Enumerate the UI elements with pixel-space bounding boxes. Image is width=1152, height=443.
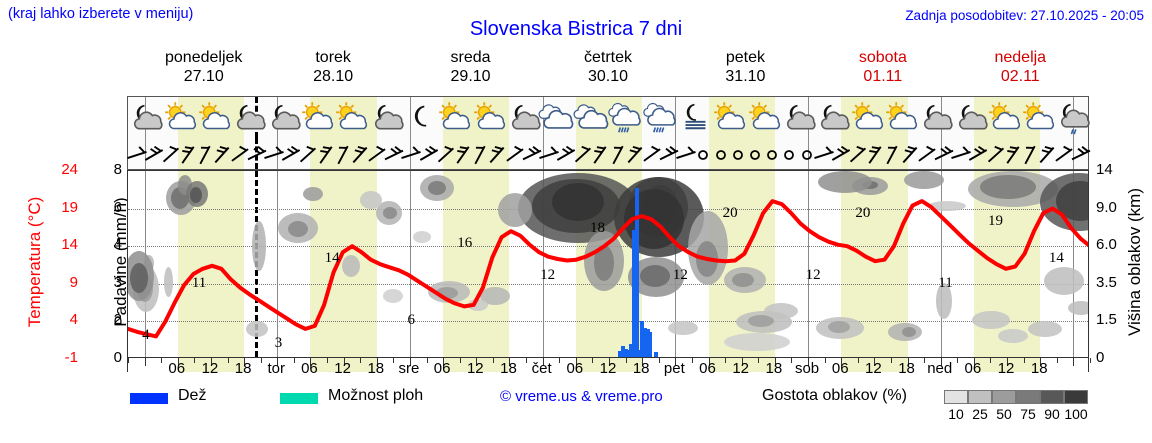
temperature-point-label: 12 (673, 267, 688, 284)
x-tick (1090, 358, 1091, 363)
temperature-point-label: 3 (275, 335, 283, 352)
wind-barb-band (127, 138, 1089, 170)
cloud-density-swatch (1016, 390, 1040, 404)
precipitation-tick: 6 (100, 199, 122, 216)
cloud-density-swatch (1040, 390, 1064, 404)
sun-cloud-icon (470, 99, 508, 137)
sun-cloud-icon (882, 99, 920, 137)
cloud-height-axis-title: Višina oblakov (km) (1125, 162, 1145, 362)
precipitation-tick: 4 (100, 236, 122, 253)
temperature-point-label: 14 (1049, 250, 1064, 267)
precipitation-tick: 0 (100, 349, 122, 366)
day-date: 02.11 (952, 67, 1089, 86)
sun-cloud-icon (332, 99, 370, 137)
cloud-density-step-label: 100 (1061, 406, 1091, 422)
moon-icon (401, 99, 439, 137)
x-axis-label: 18 (1019, 360, 1059, 377)
day-date: 27.10 (135, 67, 272, 86)
cloud-height-tick: 6.0 (1096, 236, 1138, 253)
temperature-point-label: 12 (806, 267, 821, 284)
day-date: 30.10 (539, 67, 676, 86)
temperature-point-label: 6 (407, 312, 415, 329)
day-header-0: ponedeljek27.10 (135, 48, 272, 88)
day-name: nedelja (952, 48, 1089, 67)
temperature-point-label: 20 (723, 205, 738, 222)
sun-cloud-icon (298, 99, 336, 137)
temperature-point-label: 12 (540, 267, 555, 284)
cloud-density-swatch (1064, 390, 1088, 404)
showers-legend-label: Možnost ploh (328, 387, 423, 405)
day-name: sobota (814, 48, 951, 67)
day-name: ponedeljek (135, 48, 272, 67)
cloud-density-swatch (944, 390, 968, 404)
moon-cloud-icon (367, 99, 405, 137)
sun-cloud-icon (985, 99, 1023, 137)
temperature-tick: 19 (44, 199, 78, 216)
moon-cloud-icon (916, 99, 954, 137)
wind-barb-icon (1068, 143, 1094, 165)
day-name: četrtek (539, 48, 676, 67)
temperature-tick: -1 (44, 349, 78, 366)
sun-cloud-icon (195, 99, 233, 137)
cloud-icon (573, 99, 611, 137)
showers-legend-swatch (280, 393, 318, 404)
temperature-curve (128, 171, 1089, 358)
moon-cloud-icon (504, 99, 542, 137)
forecast-page: (kraj lahko izberete v meniju) Slovenska… (0, 0, 1152, 443)
moon-cloud-icon (779, 99, 817, 137)
temperature-tick: 4 (44, 311, 78, 328)
precipitation-tick: 2 (100, 311, 122, 328)
cloud-height-tick: 3.5 (1096, 274, 1138, 291)
credit-link[interactable]: © vreme.us & vreme.pro (500, 388, 663, 405)
cloud-density-swatch (968, 390, 992, 404)
sun-cloud-icon (710, 99, 748, 137)
moon-cloud-icon (264, 99, 302, 137)
day-header-4: petek31.10 (677, 48, 814, 88)
moon-cloud-icon (229, 99, 267, 137)
temperature-point-label: 16 (457, 235, 472, 252)
moon-cloud-icon (951, 99, 989, 137)
x-tick (145, 358, 146, 366)
moon-cloud-icon (813, 99, 851, 137)
cloud-height-tick: 14 (1096, 161, 1138, 178)
precipitation-tick: 8 (100, 161, 122, 178)
day-date: 29.10 (402, 67, 539, 86)
cloud-rain-icon (607, 99, 645, 137)
day-date: 28.10 (264, 67, 401, 86)
day-header-6: nedelja02.11 (952, 48, 1089, 88)
cloud-density-legend-title: Gostota oblakov (%) (762, 387, 907, 405)
cloud-height-tick: 1.5 (1096, 311, 1138, 328)
day-date: 31.10 (677, 67, 814, 86)
day-header-3: četrtek30.10 (539, 48, 676, 88)
sun-cloud-icon (1019, 99, 1057, 137)
cloud-height-tick: 9.0 (1096, 199, 1138, 216)
temperature-point-label: 18 (590, 220, 605, 237)
temperature-point-label: 4 (142, 327, 150, 344)
temperature-point-label: 20 (855, 205, 870, 222)
forecast-plot: 411314616121812201220111914 (127, 170, 1089, 358)
day-header-2: sreda29.10 (402, 48, 539, 88)
weather-icon-band (127, 96, 1089, 138)
temperature-tick: 9 (44, 274, 78, 291)
cloud-rain-icon (642, 99, 680, 137)
temperature-point-label: 14 (325, 250, 340, 267)
rain-legend-swatch (130, 393, 168, 404)
sun-cloud-icon (745, 99, 783, 137)
day-name: torek (264, 48, 401, 67)
sun-cloud-icon (848, 99, 886, 137)
precipitation-tick: 3 (100, 274, 122, 291)
cloud-height-tick: 0 (1096, 349, 1138, 366)
sun-cloud-icon (161, 99, 199, 137)
cloud-density-swatch (992, 390, 1016, 404)
temperature-point-label: 11 (938, 275, 952, 292)
x-tick (128, 358, 129, 363)
cloud-icon (538, 99, 576, 137)
temperature-tick: 14 (44, 236, 78, 253)
day-name: sreda (402, 48, 539, 67)
sun-cloud-icon (435, 99, 473, 137)
day-header-5: sobota01.11 (814, 48, 951, 88)
moon-fog-icon (676, 99, 714, 137)
temperature-point-label: 11 (192, 275, 206, 292)
day-header-1: torek28.10 (264, 48, 401, 88)
temperature-tick: 24 (44, 161, 78, 178)
temperature-point-label: 19 (988, 213, 1003, 230)
day-date: 01.11 (814, 67, 951, 86)
x-tick (1073, 358, 1074, 366)
rain-legend-label: Dež (178, 387, 206, 405)
moon-cloud-icon (126, 99, 164, 137)
temperature-axis-title: Temperatura (°C) (25, 167, 45, 357)
last-update: Zadnja posodobitev: 27.10.2025 - 20:05 (905, 8, 1144, 23)
day-name: petek (677, 48, 814, 67)
moon-cloud-rain-icon (1054, 99, 1092, 137)
